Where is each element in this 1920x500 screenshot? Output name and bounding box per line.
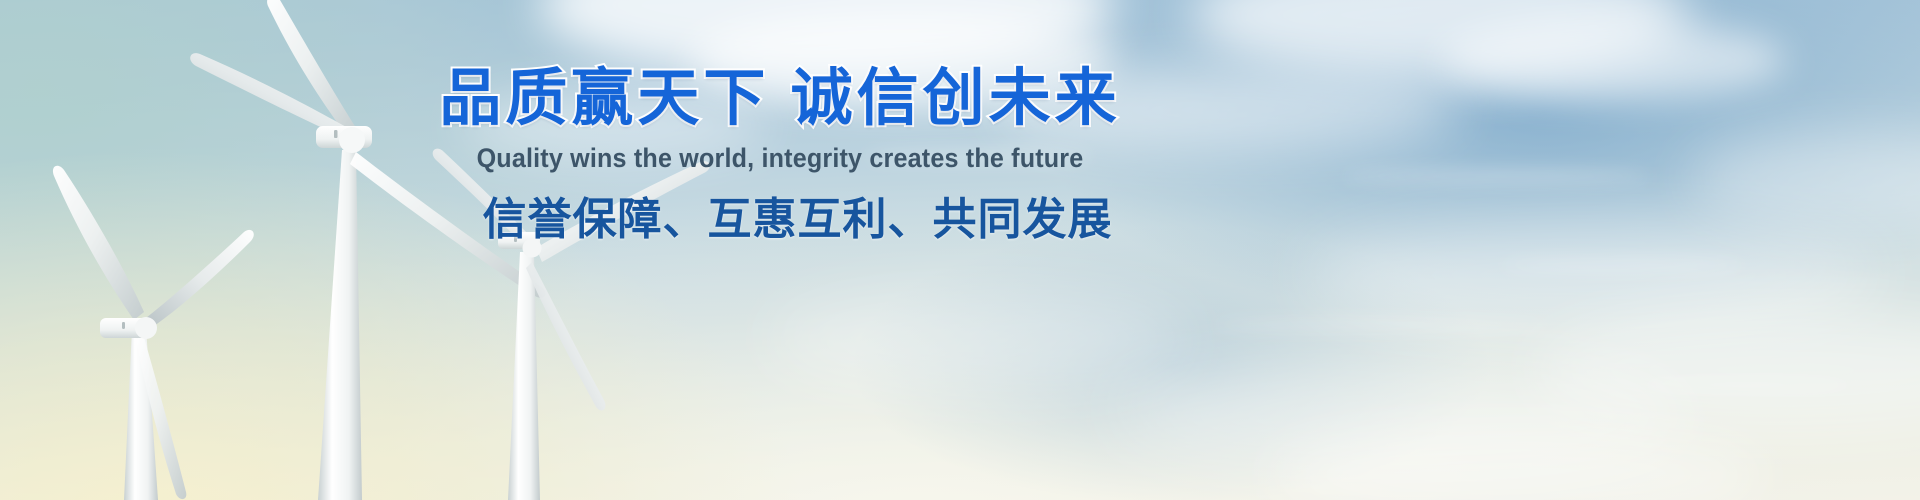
banner-subtitle-english: Quality wins the world, integrity create… [55, 144, 1506, 174]
banner-headline: 品质赢天下 诚信创未来 [0, 68, 1560, 130]
banner-copy: 品质赢天下 诚信创未来 Quality wins the world, inte… [0, 0, 1920, 500]
promo-banner: 品质赢天下 诚信创未来 Quality wins the world, inte… [0, 0, 1920, 500]
banner-tagline: 信誉保障、互惠互利、共同发展 [0, 198, 1595, 242]
